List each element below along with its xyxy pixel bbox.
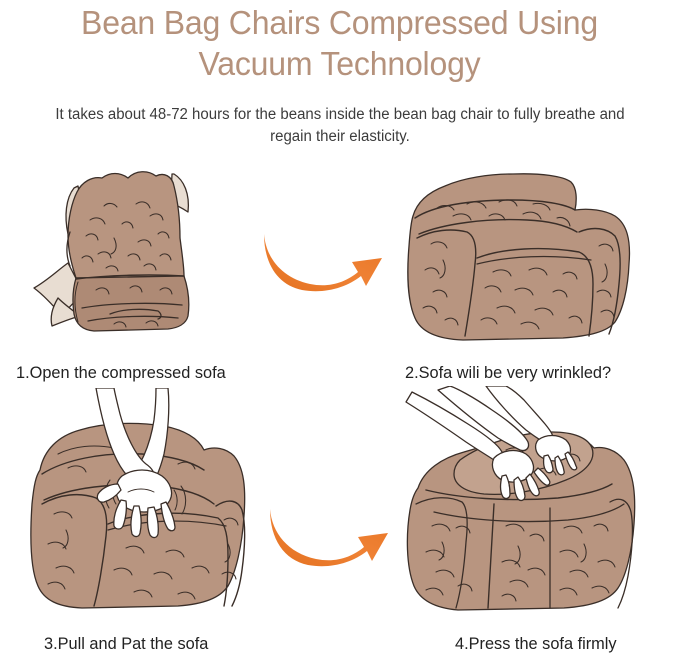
infographic-page: Bean Bag Chairs Compressed Using Vacuum … (0, 0, 679, 657)
page-title: Bean Bag Chairs Compressed Using Vacuum … (10, 2, 669, 84)
compressed-sofa-icon (18, 158, 248, 353)
step-4-caption: 4.Press the sofa firmly (455, 634, 617, 654)
page-subtitle: It takes about 48-72 hours for the beans… (46, 104, 634, 148)
step-2-illustration (393, 160, 643, 350)
curved-arrow-icon (262, 228, 386, 300)
pressing-hands-sofa-icon (398, 386, 653, 626)
step-1-illustration (18, 158, 248, 353)
arrow-step3-to-step4 (268, 503, 394, 575)
step-4-illustration (398, 386, 653, 626)
patting-hands-sofa-icon (18, 388, 268, 628)
arrow-step1-to-step2 (262, 228, 386, 300)
step-3-illustration (18, 388, 268, 628)
wrinkled-sofa-icon (393, 160, 643, 350)
step-1-caption: 1.Open the compressed sofa (16, 363, 226, 383)
step-2-caption: 2.Sofa wili be very wrinkled? (405, 363, 611, 383)
step-3-caption: 3.Pull and Pat the sofa (44, 634, 208, 654)
curved-arrow-icon (268, 503, 394, 575)
